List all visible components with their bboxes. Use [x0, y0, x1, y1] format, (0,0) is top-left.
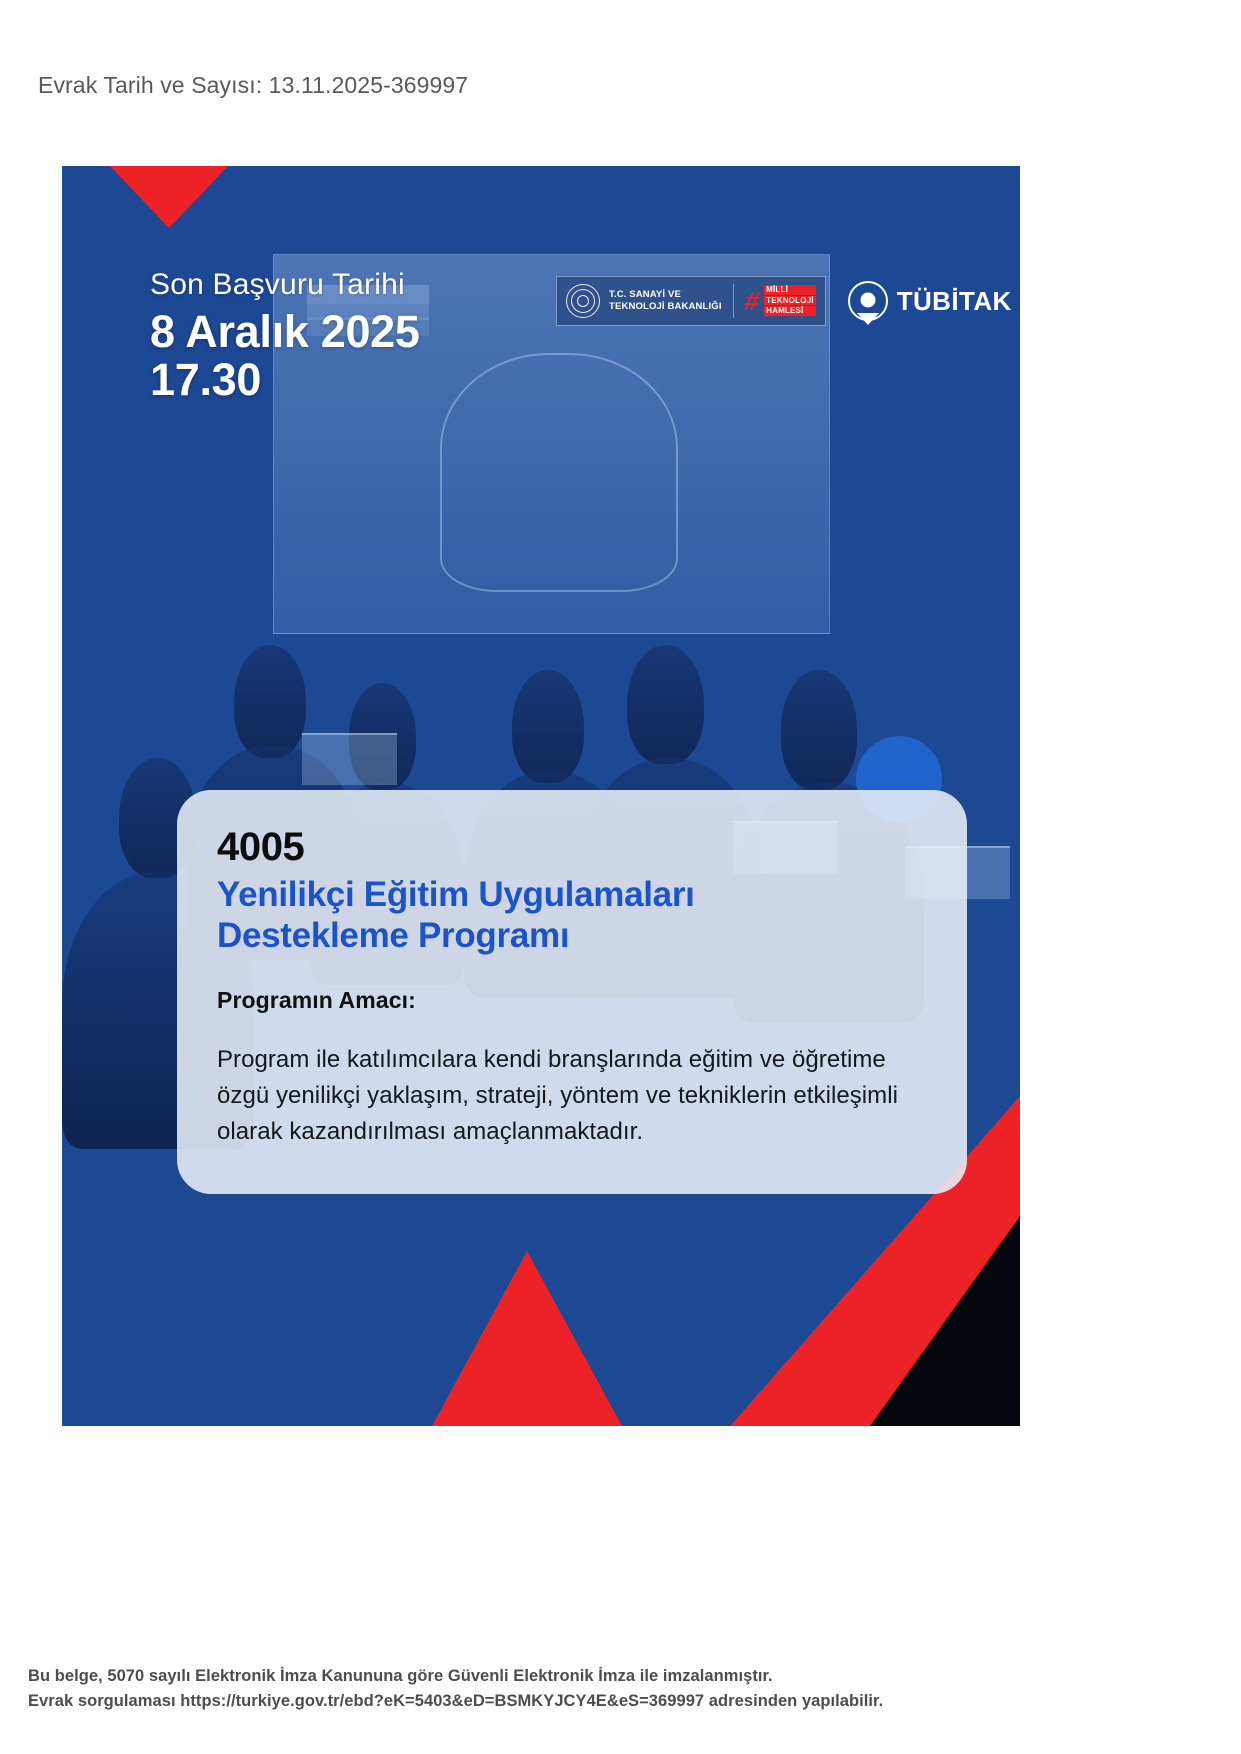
ministry-line-2: TEKNOLOJİ BAKANLIĞI [609, 301, 722, 313]
deadline-date: 8 Aralık 2025 [150, 308, 420, 356]
decorative-triangle-red-small [432, 1251, 622, 1426]
program-title-line-1: Yenilikçi Eğitim Uygulamaları [217, 875, 927, 916]
decorative-triangle-black [870, 1216, 1020, 1426]
audience-head [627, 645, 704, 765]
audience-head [234, 645, 306, 758]
program-title-line-2: Destekleme Programı [217, 916, 927, 957]
logo-divider [733, 284, 734, 318]
mth-line-2: TEKNOLOJİ [764, 296, 816, 305]
program-title: Yenilikçi Eğitim Uygulamaları Destekleme… [217, 875, 927, 957]
deadline-label: Son Başvuru Tarihi [150, 268, 420, 302]
evrak-header: Evrak Tarih ve Sayısı: 13.11.2025-369997 [38, 72, 468, 99]
mth-line-3: HAMLESİ [764, 306, 816, 315]
e-signature-footer: Bu belge, 5070 sayılı Elektronik İmza Ka… [28, 1664, 883, 1714]
footer-line-2: Evrak sorgulaması https://turkiye.gov.tr… [28, 1689, 883, 1714]
hashtag-icon: # [742, 288, 762, 314]
program-poster: Son Başvuru Tarihi 8 Aralık 2025 17.30 T… [62, 166, 1020, 1426]
tubitak-logo-text: TÜBİTAK [897, 286, 1012, 317]
deadline-time: 17.30 [150, 356, 420, 404]
laptop [302, 733, 398, 785]
audience-head [781, 670, 858, 790]
program-purpose-text: Program ile katılımcılara kendi branşlar… [217, 1042, 927, 1150]
logo-bar: T.C. SANAYİ VE TEKNOLOJİ BAKANLIĞI # MİL… [556, 276, 1020, 326]
decorative-triangle-top [110, 166, 228, 228]
tubitak-logo: TÜBİTAK [848, 281, 1012, 321]
ministry-seal-icon [566, 284, 600, 318]
ministry-logo: T.C. SANAYİ VE TEKNOLOJİ BAKANLIĞI # MİL… [556, 276, 826, 326]
program-info-card: 4005 Yenilikçi Eğitim Uygulamaları Deste… [177, 790, 967, 1194]
tubitak-logo-icon [848, 281, 888, 321]
application-deadline-block: Son Başvuru Tarihi 8 Aralık 2025 17.30 [150, 268, 420, 403]
ministry-line-1: T.C. SANAYİ VE [609, 289, 722, 301]
ministry-logo-text: T.C. SANAYİ VE TEKNOLOJİ BAKANLIĞI [609, 289, 722, 312]
milli-teknoloji-hamlesi-logo: # MİLLİ TEKNOLOJİ HAMLESİ [745, 285, 816, 316]
program-purpose-heading: Programın Amacı: [217, 987, 927, 1014]
mth-line-1: MİLLİ [764, 285, 816, 294]
milli-teknoloji-text: MİLLİ TEKNOLOJİ HAMLESİ [764, 285, 816, 316]
footer-line-1: Bu belge, 5070 sayılı Elektronik İmza Ka… [28, 1664, 883, 1689]
audience-head [512, 670, 584, 783]
program-code: 4005 [217, 826, 927, 869]
